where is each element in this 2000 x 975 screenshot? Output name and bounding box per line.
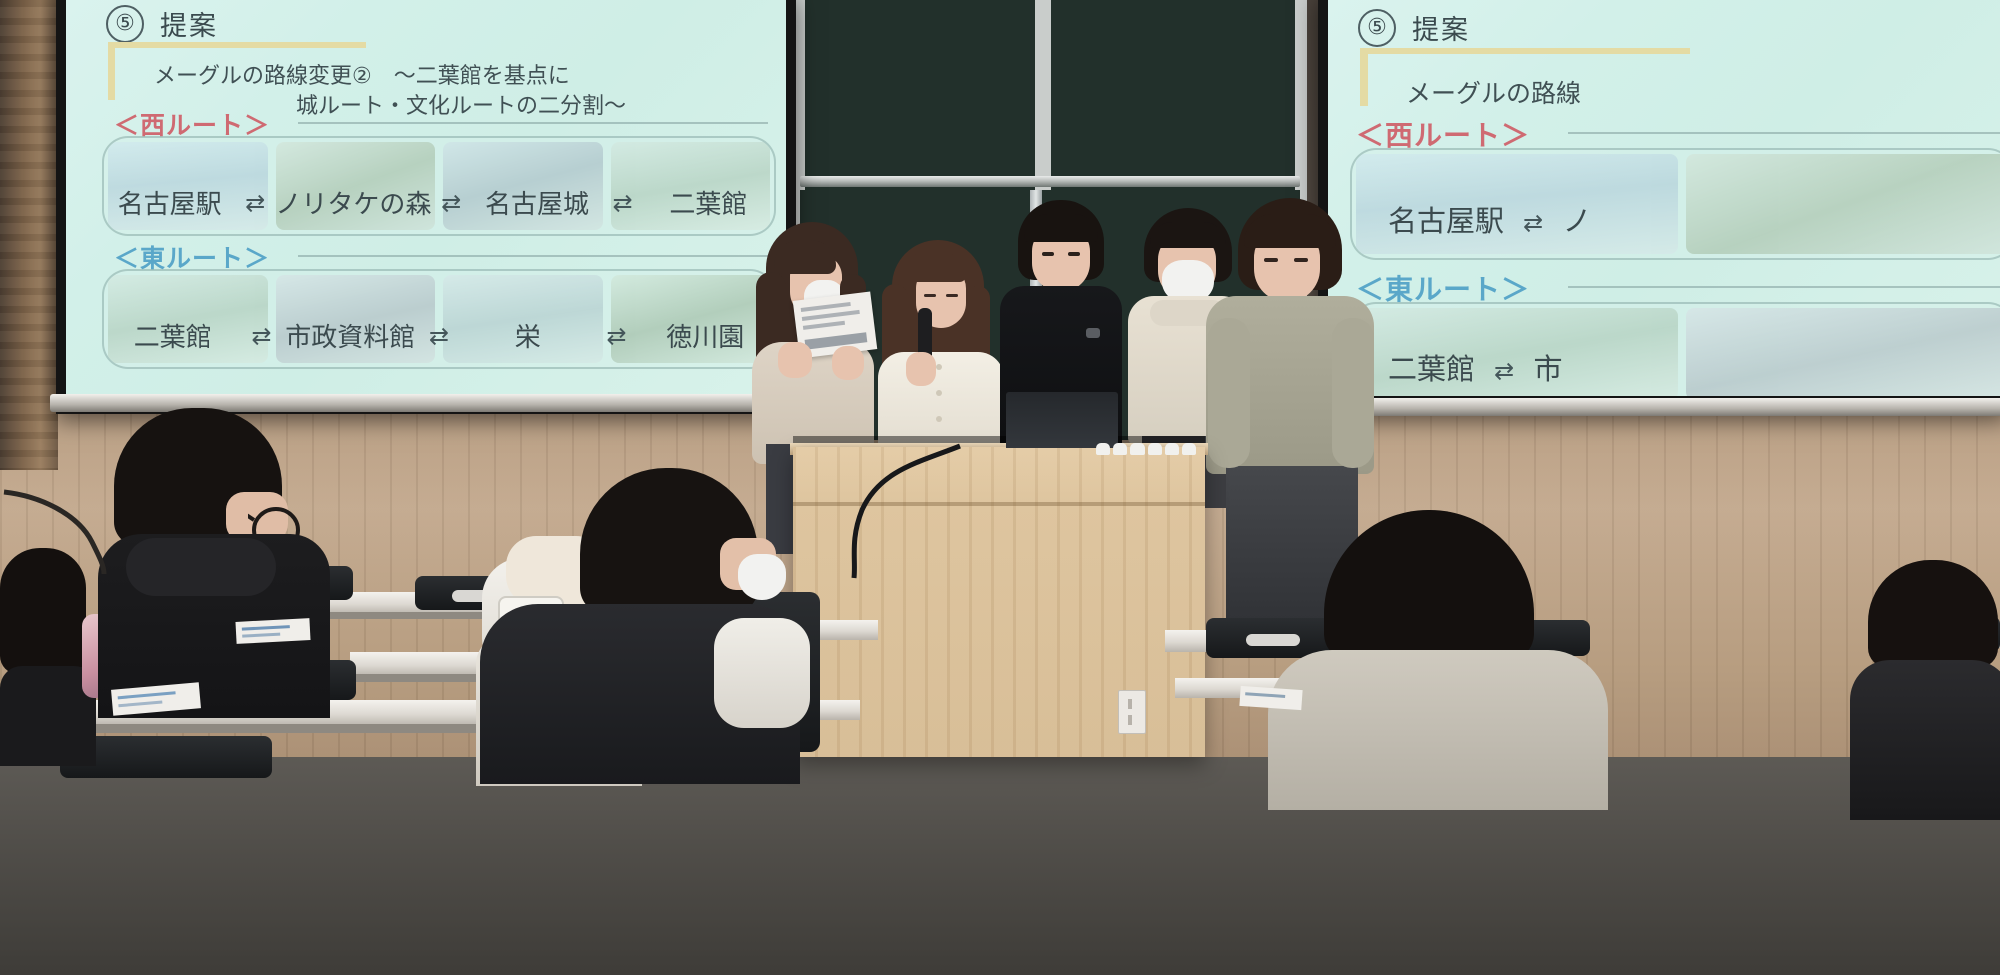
paper-cups xyxy=(1096,443,1196,455)
station-label: 名古屋駅 xyxy=(104,184,235,221)
audience-5 xyxy=(1268,510,1598,790)
arm-right xyxy=(1332,318,1374,468)
route-arrow-icon: ⇄ xyxy=(603,189,643,217)
accent-rule-vertical-right xyxy=(1360,48,1368,106)
screenshot-root: ⑤ 提案 メーグルの路線変更② ～二葉館を基点に 城ルート・文化ルートの二分割～… xyxy=(0,0,2000,975)
button xyxy=(936,390,942,396)
station-label: 市 xyxy=(1533,352,1562,386)
paper-cup xyxy=(1182,443,1196,455)
laptop[interactable] xyxy=(1006,392,1118,448)
bangs xyxy=(1024,214,1098,242)
blackboard-mullion xyxy=(1035,0,1051,200)
photo-noritake-garden xyxy=(1686,154,2000,254)
arm-left xyxy=(1208,318,1250,468)
route-arrow-icon: ⇄ xyxy=(235,189,275,217)
slide-subtitle-right: メーグルの路線 xyxy=(1406,74,1581,110)
hand-left xyxy=(778,342,812,378)
slide-header-right: ⑤ 提案 xyxy=(1358,8,1470,47)
paper-cup xyxy=(1130,443,1144,455)
chalk-rail-upper xyxy=(800,176,1300,187)
slide-subtitle-line1: メーグルの路線変更② ～二葉館を基点に xyxy=(154,58,570,90)
bangs xyxy=(1244,214,1336,248)
hand-right xyxy=(832,346,864,380)
east-route-box: 二葉館 ⇄ 市政資料館 ⇄ 栄 ⇄ 徳川園 xyxy=(102,269,776,369)
station-label: 二葉館 xyxy=(104,317,242,354)
west-route-rule-right xyxy=(1568,132,2000,134)
student-desk-edge xyxy=(60,724,480,733)
station-label: ノ xyxy=(1562,204,1591,238)
station-label: 市政資料館 xyxy=(282,317,420,354)
east-route-rule xyxy=(298,255,768,257)
east-route-box-right: 二葉館 ⇄ 市 xyxy=(1350,302,2000,396)
accent-rule-horizontal-right xyxy=(1360,48,1690,54)
slide-header: ⑤ 提案 xyxy=(106,4,218,43)
slide-section-title: 提案 xyxy=(160,4,218,43)
east-stations-right: 二葉館 ⇄ 市 xyxy=(1388,346,1562,388)
projection-screen-right-bar xyxy=(1318,398,2000,416)
station-label: 栄 xyxy=(459,317,597,354)
presenter-2 xyxy=(876,240,1004,450)
slide-left: ⑤ 提案 メーグルの路線変更② ～二葉館を基点に 城ルート・文化ルートの二分割～… xyxy=(66,0,786,394)
route-arrow-icon: ⇄ xyxy=(1513,209,1553,237)
paper-cup xyxy=(1113,443,1127,455)
accent-rule-horizontal xyxy=(108,42,366,48)
route-arrow-icon: ⇄ xyxy=(242,322,282,350)
west-route-stations: 名古屋駅 ⇄ ノリタケの森 ⇄ 名古屋城 ⇄ 二葉館 xyxy=(104,184,774,221)
handout-on-desk xyxy=(235,618,310,644)
audience-4 xyxy=(470,468,800,778)
eye-right xyxy=(1294,258,1308,262)
hand-holding-mic xyxy=(906,352,936,386)
west-route-box-right: 名古屋駅 ⇄ ノ xyxy=(1350,148,2000,260)
eye-left xyxy=(1264,258,1278,262)
handout-on-desk xyxy=(1239,686,1302,710)
torso-grey-sweater xyxy=(1268,650,1608,810)
accent-rule-vertical xyxy=(108,42,115,100)
station-label: 名古屋駅 xyxy=(1388,204,1504,238)
slide-subtitle-line2: 城ルート・文化ルートの二分割～ xyxy=(296,88,626,120)
projection-screen-left: ⑤ 提案 メーグルの路線変更② ～二葉館を基点に 城ルート・文化ルートの二分割～… xyxy=(66,0,786,394)
west-stations-right: 名古屋駅 ⇄ ノ xyxy=(1388,198,1591,240)
white-sleeve xyxy=(714,618,810,728)
eye-left xyxy=(924,294,936,297)
station-label: 二葉館 xyxy=(643,184,774,221)
slide-section-title: 提案 xyxy=(1412,8,1470,47)
paper-cup xyxy=(1148,443,1162,455)
slide-section-number: ⑤ xyxy=(106,5,144,43)
station-label: ノリタケの森 xyxy=(275,184,431,221)
paper-cup xyxy=(1096,443,1110,455)
paper-cup xyxy=(1165,443,1179,455)
west-route-box: 名古屋駅 ⇄ ノリタケの森 ⇄ 名古屋城 ⇄ 二葉館 xyxy=(102,136,776,236)
bangs xyxy=(902,252,966,282)
face-mask xyxy=(738,554,786,600)
station-label: 二葉館 xyxy=(1388,352,1475,386)
station-label: 名古屋城 xyxy=(471,184,602,221)
route-arrow-icon: ⇄ xyxy=(597,322,637,350)
audience-2 xyxy=(0,548,86,748)
wall-power-outlet[interactable] xyxy=(1118,690,1146,734)
audience-6 xyxy=(1850,560,2000,810)
route-arrow-icon: ⇄ xyxy=(419,322,459,350)
projection-screen-right: ⑤ 提案 メーグルの路線 ＜西ルート＞ 名古屋駅 ⇄ ノ ＜東ルート＞ xyxy=(1328,0,2000,396)
eye-right xyxy=(946,294,958,297)
torso xyxy=(1850,660,2000,820)
west-route-rule xyxy=(298,122,768,124)
slide-right: ⑤ 提案 メーグルの路線 ＜西ルート＞ 名古屋駅 ⇄ ノ ＜東ルート＞ xyxy=(1328,0,2000,396)
floor xyxy=(0,757,2000,975)
microphone-cable xyxy=(770,440,970,580)
route-arrow-icon: ⇄ xyxy=(1484,357,1524,385)
bangs xyxy=(774,240,836,274)
route-arrow-icon: ⇄ xyxy=(431,189,471,217)
east-route-rule-right xyxy=(1568,286,2000,288)
east-route-stations: 二葉館 ⇄ 市政資料館 ⇄ 栄 ⇄ 徳川園 xyxy=(104,317,774,354)
button xyxy=(936,364,942,370)
eye-left xyxy=(1042,252,1054,256)
photo-shisei-shiryokan xyxy=(1686,308,2000,396)
hair xyxy=(1324,510,1534,660)
slide-section-number: ⑤ xyxy=(1358,9,1396,47)
hair xyxy=(1868,560,1998,668)
wall-cable xyxy=(0,486,150,576)
button xyxy=(936,416,942,422)
jacket-logo xyxy=(1086,328,1100,338)
eye-right xyxy=(1068,252,1080,256)
